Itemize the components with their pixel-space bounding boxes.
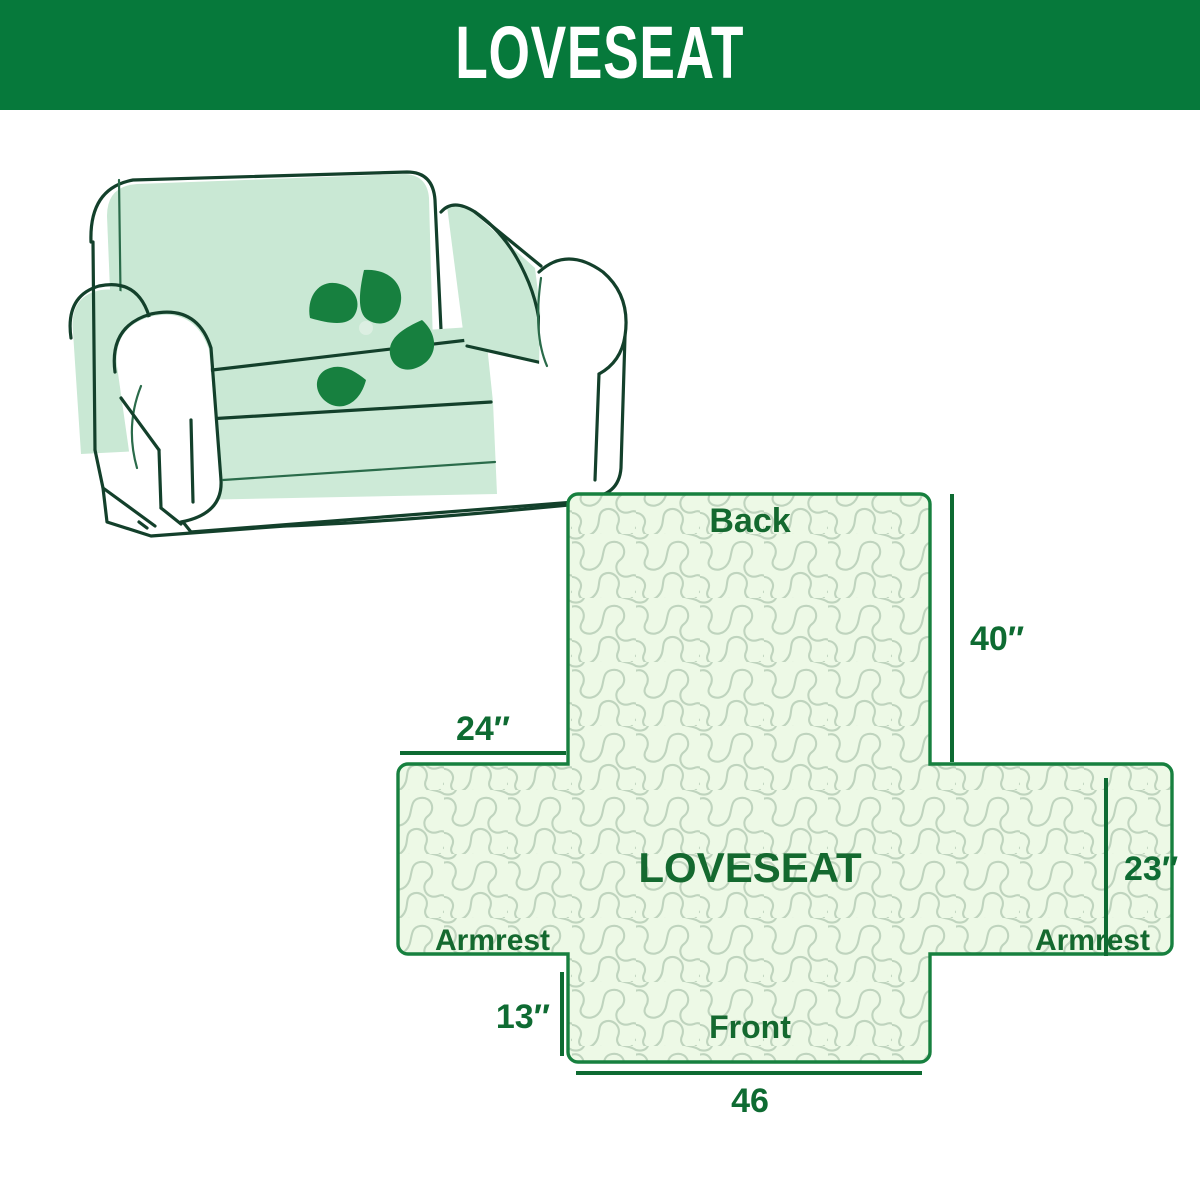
dimension-13-inch: 13″ [496, 972, 562, 1056]
dimension-40-inch: 40″ [952, 494, 1024, 762]
cover-cross-shape [398, 494, 1172, 1062]
dim-24-label: 24″ [456, 710, 510, 748]
dimension-46: 46 [576, 1073, 922, 1120]
label-back: Back [709, 502, 790, 540]
sofa-left-armrest [114, 312, 221, 522]
page-title: LOVESEAT [456, 16, 745, 90]
dim-46-label: 46 [731, 1082, 769, 1120]
dim-40-label: 40″ [970, 620, 1024, 658]
label-center-loveseat: LOVESEAT [638, 844, 862, 891]
dim-23-label: 23″ [1124, 850, 1178, 888]
label-armrest-right: Armrest [1035, 924, 1150, 957]
header-banner: LOVESEAT [0, 0, 1200, 110]
dimension-24-inch: 24″ [400, 710, 566, 753]
label-front: Front [709, 1009, 791, 1045]
dim-13-label: 13″ [496, 998, 550, 1036]
product-dimension-infographic: LOVESEAT .ln { fill:none; stroke:#13402B… [0, 0, 1200, 1200]
flat-cover-diagram: Back LOVESEAT Armrest Armrest Front 40″ … [380, 470, 1200, 1120]
sofa-right-armrest [538, 259, 626, 502]
label-armrest-left: Armrest [435, 924, 550, 957]
